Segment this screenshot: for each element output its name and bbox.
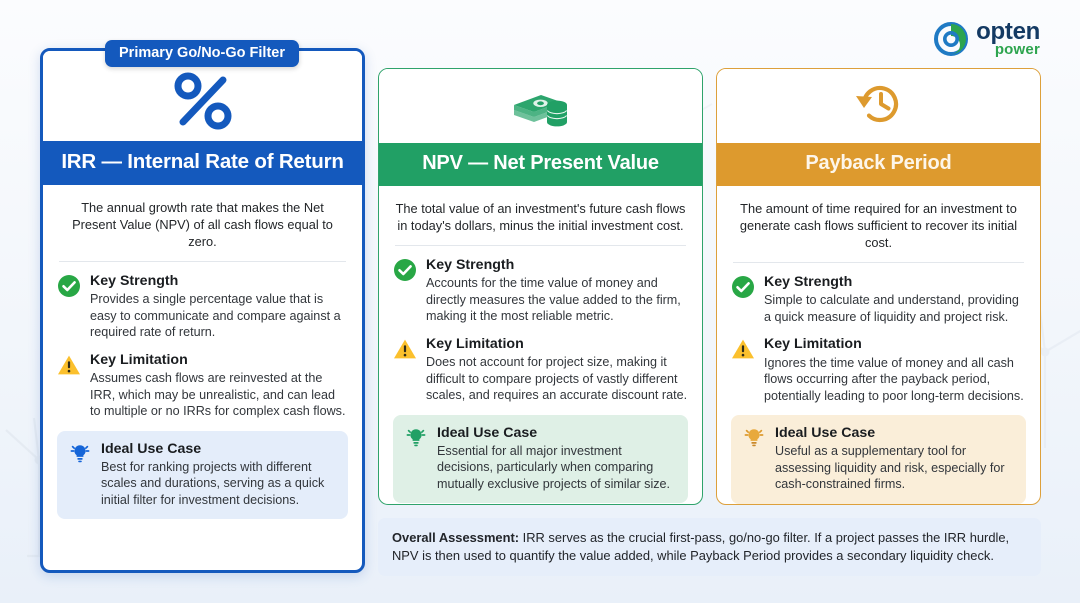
check-circle-icon bbox=[731, 275, 755, 299]
card-irr-title: IRR — Internal Rate of Return bbox=[43, 141, 362, 185]
card-payback-strength-text: Simple to calculate and understand, prov… bbox=[764, 292, 1026, 325]
opten-swirl-logo-icon bbox=[934, 22, 968, 56]
card-npv-strength: Key Strength Accounts for the time value… bbox=[393, 257, 688, 325]
card-payback-body: The amount of time required for an inves… bbox=[717, 186, 1040, 505]
warning-triangle-icon bbox=[57, 353, 81, 377]
card-payback-title: Payback Period bbox=[717, 143, 1040, 186]
overall-assessment-label: Overall Assessment: bbox=[392, 530, 519, 545]
warning-triangle-icon bbox=[731, 337, 755, 361]
brand-logo: opten power bbox=[934, 20, 1040, 57]
divider bbox=[59, 261, 346, 262]
card-payback-strength-heading: Key Strength bbox=[764, 274, 1026, 290]
lightbulb-icon bbox=[404, 426, 428, 450]
card-npv: NPV — Net Present Value The total value … bbox=[378, 68, 703, 505]
card-npv-usecase: Ideal Use Case Essential for all major i… bbox=[393, 415, 688, 504]
card-payback-limitation-heading: Key Limitation bbox=[764, 336, 1026, 352]
card-npv-limitation-text: Does not account for project size, makin… bbox=[426, 354, 688, 403]
card-npv-usecase-heading: Ideal Use Case bbox=[437, 425, 677, 441]
warning-triangle-icon bbox=[393, 337, 417, 361]
card-npv-title: NPV — Net Present Value bbox=[379, 143, 702, 186]
lightbulb-icon bbox=[742, 426, 766, 450]
card-irr-body: The annual growth rate that makes the Ne… bbox=[43, 185, 362, 529]
card-payback-usecase-heading: Ideal Use Case bbox=[775, 425, 1015, 441]
overall-assessment-panel: Overall Assessment: IRR serves as the cr… bbox=[378, 518, 1041, 576]
card-payback-usecase: Ideal Use Case Useful as a supplementary… bbox=[731, 415, 1026, 504]
card-npv-body: The total value of an investment's futur… bbox=[379, 186, 702, 505]
card-npv-icon-area bbox=[379, 69, 702, 143]
card-irr-limitation-text: Assumes cash flows are reinvested at the… bbox=[90, 370, 348, 419]
card-irr-usecase: Ideal Use Case Best for ranking projects… bbox=[57, 431, 348, 520]
lightbulb-icon bbox=[68, 442, 92, 466]
percent-icon bbox=[172, 70, 234, 137]
card-npv-limitation: Key Limitation Does not account for proj… bbox=[393, 336, 688, 404]
card-irr: IRR — Internal Rate of Return The annual… bbox=[40, 48, 365, 573]
divider bbox=[395, 245, 686, 246]
card-payback-limitation: Key Limitation Ignores the time value of… bbox=[731, 336, 1026, 404]
card-payback-strength: Key Strength Simple to calculate and und… bbox=[731, 274, 1026, 325]
primary-filter-badge: Primary Go/No-Go Filter bbox=[105, 40, 299, 67]
card-irr-usecase-text: Best for ranking projects with different… bbox=[101, 459, 337, 508]
card-irr-usecase-heading: Ideal Use Case bbox=[101, 441, 337, 457]
card-npv-definition: The total value of an investment's futur… bbox=[393, 198, 688, 245]
card-npv-limitation-heading: Key Limitation bbox=[426, 336, 688, 352]
check-circle-icon bbox=[57, 274, 81, 298]
card-irr-limitation-heading: Key Limitation bbox=[90, 352, 348, 368]
card-irr-strength-heading: Key Strength bbox=[90, 273, 348, 289]
card-payback-icon-area bbox=[717, 69, 1040, 143]
card-irr-limitation: Key Limitation Assumes cash flows are re… bbox=[57, 352, 348, 420]
card-npv-strength-heading: Key Strength bbox=[426, 257, 688, 273]
card-payback-usecase-text: Useful as a supplementary tool for asses… bbox=[775, 443, 1015, 492]
card-npv-usecase-text: Essential for all major investment decis… bbox=[437, 443, 677, 492]
card-payback-limitation-text: Ignores the time value of money and all … bbox=[764, 355, 1026, 404]
infographic-canvas: opten power Primary Go/No-Go Filter IRR … bbox=[0, 0, 1080, 603]
card-payback: Payback Period The amount of time requir… bbox=[716, 68, 1041, 505]
card-irr-strength-text: Provides a single percentage value that … bbox=[90, 291, 348, 340]
card-irr-definition: The annual growth rate that makes the Ne… bbox=[57, 197, 348, 261]
check-circle-icon bbox=[393, 258, 417, 282]
clock-history-icon bbox=[851, 78, 907, 135]
card-payback-definition: The amount of time required for an inves… bbox=[731, 198, 1026, 262]
divider bbox=[733, 262, 1024, 263]
card-irr-strength: Key Strength Provides a single percentag… bbox=[57, 273, 348, 341]
cash-stack-icon bbox=[511, 78, 571, 135]
card-npv-strength-text: Accounts for the time value of money and… bbox=[426, 275, 688, 324]
